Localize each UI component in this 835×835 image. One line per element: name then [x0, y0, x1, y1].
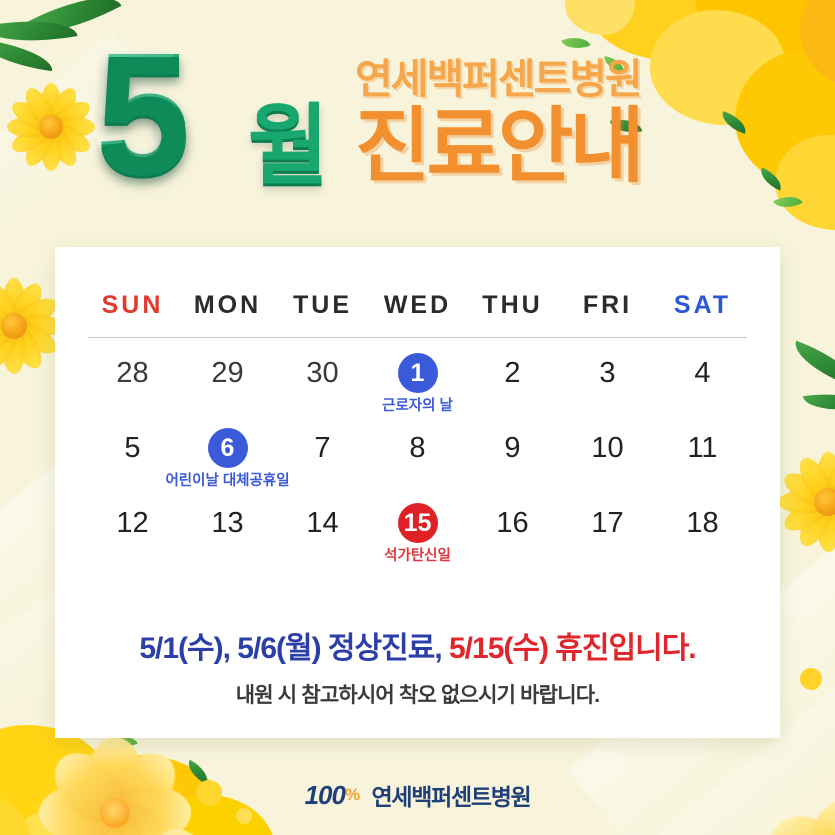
daisy-flower-left [0, 278, 62, 374]
calendar-weeks: 2829301근로자의 날23456어린이날 대체공휴일789101112131… [55, 338, 780, 563]
day-number: 30 [303, 353, 343, 393]
day-number: 13 [208, 503, 248, 543]
day-number: 9 [493, 428, 533, 468]
day-number: 10 [588, 428, 628, 468]
day-number: 7 [303, 428, 343, 468]
day-number: 5 [113, 428, 153, 468]
soft-flower-bottom-left-low [92, 830, 262, 835]
title-block: 연세백퍼센트병원 진료안내 [355, 56, 641, 190]
footer-logo-mark: 100 [305, 780, 345, 811]
calendar-week-row: 56어린이날 대체공휴일7891011 [85, 413, 750, 488]
day-number: 16 [493, 503, 533, 543]
calendar-day-cell[interactable]: 13 [180, 488, 275, 563]
calendar-day-cell[interactable]: 15석가탄신일 [370, 488, 465, 563]
calendar-day-cell[interactable]: 10 [560, 413, 655, 488]
page-title: 진료안내 [355, 104, 641, 190]
day-of-week-header-row: SUNMONTUEWEDTHUFRISAT [85, 291, 750, 320]
daisy-flower-right [778, 452, 835, 552]
calendar-day-cell[interactable]: 2 [465, 338, 560, 413]
day-number: 15 [398, 503, 438, 543]
calendar-day-cell[interactable]: 16 [465, 488, 560, 563]
day-number: 11 [683, 428, 723, 468]
poster-root: 5 월 연세백퍼센트병원 진료안내 SUNMONTUEWEDTHUFRISAT … [0, 0, 835, 835]
calendar-day-cell[interactable]: 6어린이날 대체공휴일 [180, 413, 275, 488]
month-suffix: 월 [248, 102, 326, 190]
calendar-week-row: 2829301근로자의 날234 [85, 338, 750, 413]
day-number: 18 [683, 503, 723, 543]
calendar-day-cell[interactable]: 28 [85, 338, 180, 413]
day-header-sun: SUN [85, 291, 180, 320]
notice-closed-days: 5/15(수) 휴진입니다. [449, 632, 696, 665]
day-header-tue: TUE [275, 291, 370, 320]
day-header-fri: FRI [560, 291, 655, 320]
month-number-graphic: 5 [96, 28, 185, 198]
day-number: 29 [208, 353, 248, 393]
day-number: 28 [113, 353, 153, 393]
calendar-day-cell[interactable]: 3 [560, 338, 655, 413]
calendar-card: SUNMONTUEWEDTHUFRISAT 2829301근로자의 날23456… [55, 247, 780, 738]
calendar-day-cell[interactable]: 18 [655, 488, 750, 563]
notice-open-days: 5/1(수), 5/6(월) 정상진료, [139, 632, 441, 665]
day-number: 8 [398, 428, 438, 468]
small-blossom [800, 668, 822, 690]
day-header-sat: SAT [655, 291, 750, 320]
calendar-day-cell[interactable]: 29 [180, 338, 275, 413]
calendar-day-cell[interactable]: 1근로자의 날 [370, 338, 465, 413]
calendar-day-cell[interactable]: 9 [465, 413, 560, 488]
calendar-day-cell[interactable]: 8 [370, 413, 465, 488]
notice-block: 5/1(수), 5/6(월) 정상진료, 5/15(수) 휴진입니다. 내원 시… [55, 630, 780, 709]
day-number: 2 [493, 353, 533, 393]
notice-sub-line: 내원 시 참고하시어 착오 없으시기 바랍니다. [55, 679, 780, 709]
day-header-thu: THU [465, 291, 560, 320]
day-number: 1 [398, 353, 438, 393]
day-number: 3 [588, 353, 628, 393]
footer-hospital-name: 연세백퍼센트병원 [372, 778, 531, 812]
poster-header: 5 월 연세백퍼센트병원 진료안내 [0, 0, 835, 236]
notice-main-line: 5/1(수), 5/6(월) 정상진료, 5/15(수) 휴진입니다. [55, 630, 780, 668]
calendar-week-row: 12131415석가탄신일161718 [85, 488, 750, 563]
day-header-mon: MON [180, 291, 275, 320]
month-number: 5 [96, 18, 185, 208]
day-number: 4 [683, 353, 723, 393]
day-number: 6 [208, 428, 248, 468]
calendar-day-cell[interactable]: 11 [655, 413, 750, 488]
leaf-decoration [788, 341, 835, 387]
footer-logo: 100% 연세백퍼센트병원 [0, 778, 835, 812]
day-number: 17 [588, 503, 628, 543]
calendar-day-cell[interactable]: 12 [85, 488, 180, 563]
day-number: 12 [113, 503, 153, 543]
calendar-day-cell[interactable]: 4 [655, 338, 750, 413]
hospital-name: 연세백퍼센트병원 [355, 56, 641, 102]
calendar-day-cell[interactable]: 7 [275, 413, 370, 488]
footer-percent-icon: % [345, 785, 360, 804]
calendar-day-cell[interactable]: 17 [560, 488, 655, 563]
day-header-wed: WED [370, 291, 465, 320]
leaf-decoration [803, 388, 835, 416]
day-number: 14 [303, 503, 343, 543]
